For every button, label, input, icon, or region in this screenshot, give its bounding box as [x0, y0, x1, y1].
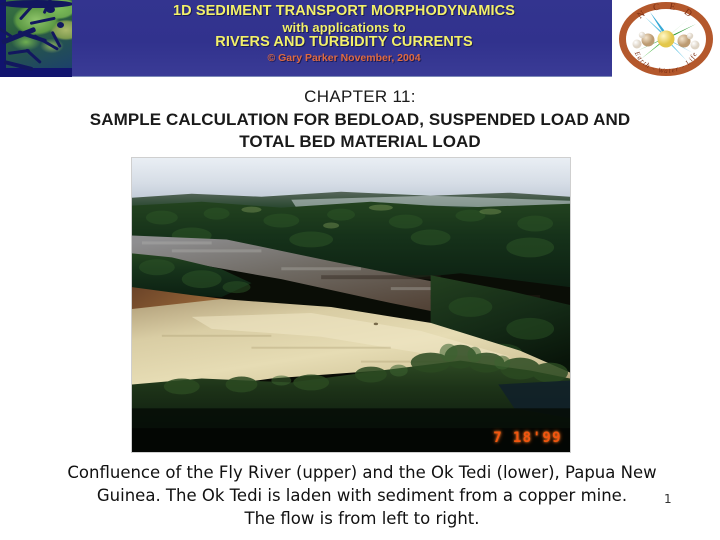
banner-title-line-3: RIVERS AND TURBIDITY CURRENTS: [80, 35, 608, 50]
chapter-label: CHAPTER 11:: [30, 86, 690, 109]
banner-title-block: 1D SEDIMENT TRANSPORT MORPHODYNAMICS wit…: [80, 4, 608, 65]
banner-title-line-1: 1D SEDIMENT TRANSPORT MORPHODYNAMICS: [80, 4, 608, 19]
header-banner: 1D SEDIMENT TRANSPORT MORPHODYNAMICS wit…: [0, 0, 720, 78]
nced-logo: N C E D Earth - Water - Life: [617, 1, 715, 77]
photo-datestamp: 7 18'99: [493, 430, 562, 446]
delta-lake: [57, 22, 64, 28]
chapter-title-line-1: SAMPLE CALCULATION FOR BEDLOAD, SUSPENDE…: [30, 109, 690, 131]
chapter-title-line-2: TOTAL BED MATERIAL LOAD: [30, 131, 690, 153]
caption-line-2: Guinea. The Ok Tedi is laden with sedime…: [56, 485, 668, 508]
page-number: 1: [664, 492, 672, 506]
caption-line-3: The flow is from left to right.: [56, 508, 668, 531]
river-delta-satellite-thumbnail: [0, 0, 72, 77]
caption-line-1: Confluence of the Fly River (upper) and …: [56, 462, 668, 485]
photo-caption: Confluence of the Fly River (upper) and …: [56, 462, 668, 530]
banner-title-line-2: with applications to: [80, 21, 608, 35]
banner-copyright: © Gary Parker November, 2004: [80, 53, 608, 64]
fly-river-ok-tedi-confluence-photo: 7 18'99: [131, 157, 571, 453]
page-title: CHAPTER 11: SAMPLE CALCULATION FOR BEDLO…: [30, 86, 690, 154]
slide-canvas: 1D SEDIMENT TRANSPORT MORPHODYNAMICS wit…: [0, 0, 720, 540]
photo-image-content: [132, 158, 570, 452]
delta-top-water: [0, 0, 72, 8]
